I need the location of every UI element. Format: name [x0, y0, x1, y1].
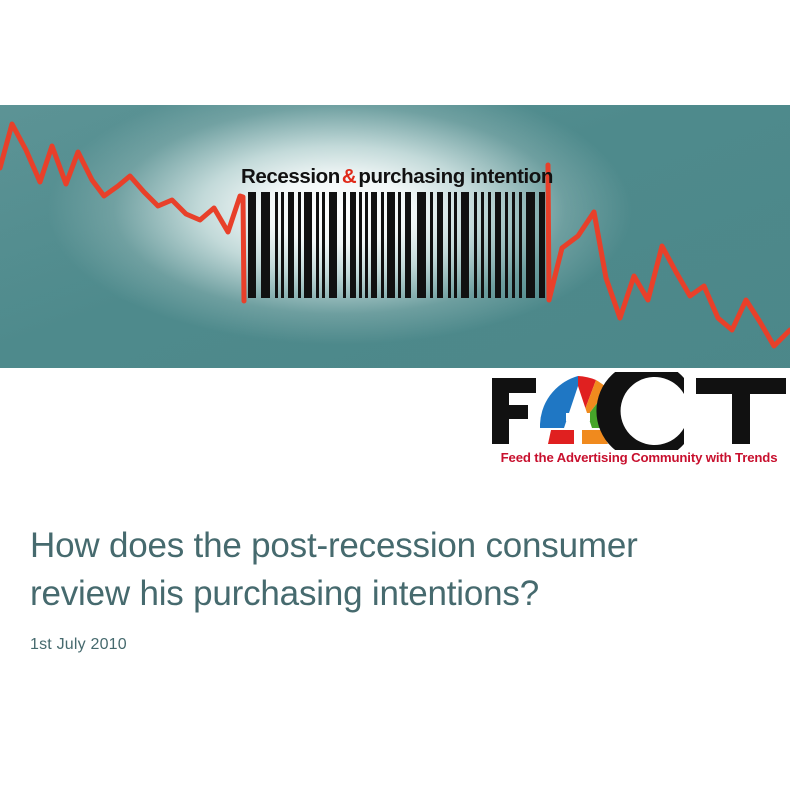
- barcode-graphic: Recession & purchasing intention: [245, 158, 548, 300]
- logo-tagline: Feed the Advertising Community with Tren…: [488, 450, 790, 465]
- trend-line-right: [548, 165, 790, 346]
- logo-letter-f-icon: [492, 378, 536, 444]
- page-title: How does the post-recession consumer rev…: [30, 522, 760, 618]
- page-date: 1st July 2010: [30, 636, 760, 654]
- fact-logo: Feed the Advertising Community with Tren…: [488, 372, 790, 476]
- page-title-line-1: How does the post-recession consumer: [30, 526, 638, 565]
- logo-letter-c-icon: [596, 372, 684, 450]
- logo-letter-t-icon: [696, 378, 786, 444]
- slide-canvas: { "slide": { "title_line_1": "How does t…: [0, 0, 800, 800]
- barcode-label-after: purchasing intention: [358, 165, 553, 189]
- title-block: How does the post-recession consumer rev…: [30, 522, 760, 654]
- fact-logo-mark: [488, 372, 790, 450]
- barcode-bars: [245, 192, 548, 298]
- barcode-label-before: Recession: [241, 165, 340, 189]
- barcode-label-ampersand: &: [340, 165, 358, 189]
- trend-line-left: [0, 124, 244, 301]
- barcode-label: Recession & purchasing intention: [261, 162, 533, 192]
- page-title-line-2: review his purchasing intentions?: [30, 574, 539, 613]
